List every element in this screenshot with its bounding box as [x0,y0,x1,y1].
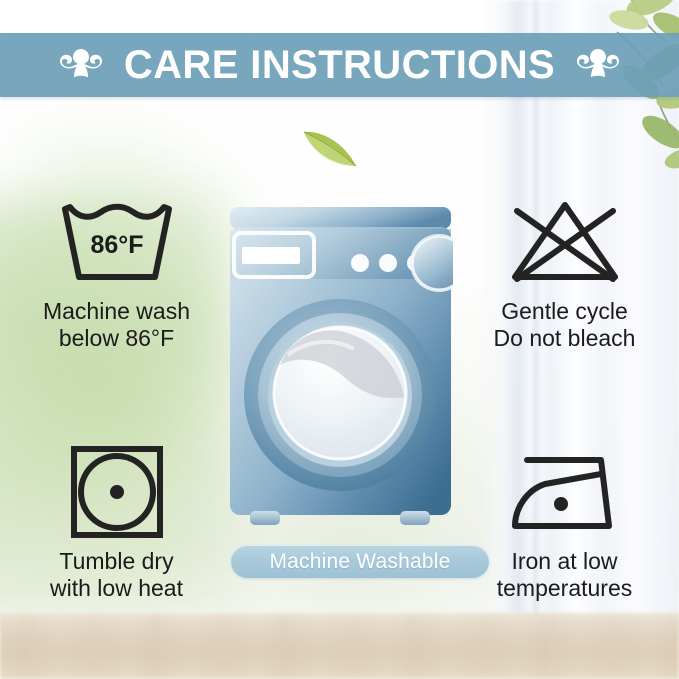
floating-leaf-icon [300,122,362,168]
fleur-de-lis-icon-left [56,45,106,85]
fleur-de-lis-icon-right [573,45,623,85]
triangle-crossed-icon [462,192,667,292]
care-symbol-label: Tumble dry with low heat [14,548,219,602]
tumble-dry-low-icon [14,442,219,542]
page-title: CARE INSTRUCTIONS [124,45,555,85]
wash-temperature-value: 86°F [90,231,143,259]
care-symbol-tumble-dry: Tumble dry with low heat [14,442,219,602]
care-instructions-infographic: CARE INSTRUCTIONS [0,0,679,679]
care-symbol-label: Gentle cycle Do not bleach [462,298,667,352]
status-badge-label: Machine Washable [269,551,450,572]
care-symbol-do-not-bleach: Gentle cycle Do not bleach [462,192,667,352]
status-badge: Machine Washable [231,545,489,578]
iron-one-dot-icon [462,442,667,542]
care-symbol-label: Machine wash below 86°F [14,298,219,352]
wash-tub-icon: 86°F [14,192,219,292]
header-banner: CARE INSTRUCTIONS [0,33,679,97]
care-symbol-machine-wash: 86°F Machine wash below 86°F [14,192,219,352]
care-symbol-label: Iron at low temperatures [462,548,667,602]
background-table-grain [0,613,679,679]
washing-machine-illustration [228,205,453,535]
care-symbol-iron-low: Iron at low temperatures [462,442,667,602]
